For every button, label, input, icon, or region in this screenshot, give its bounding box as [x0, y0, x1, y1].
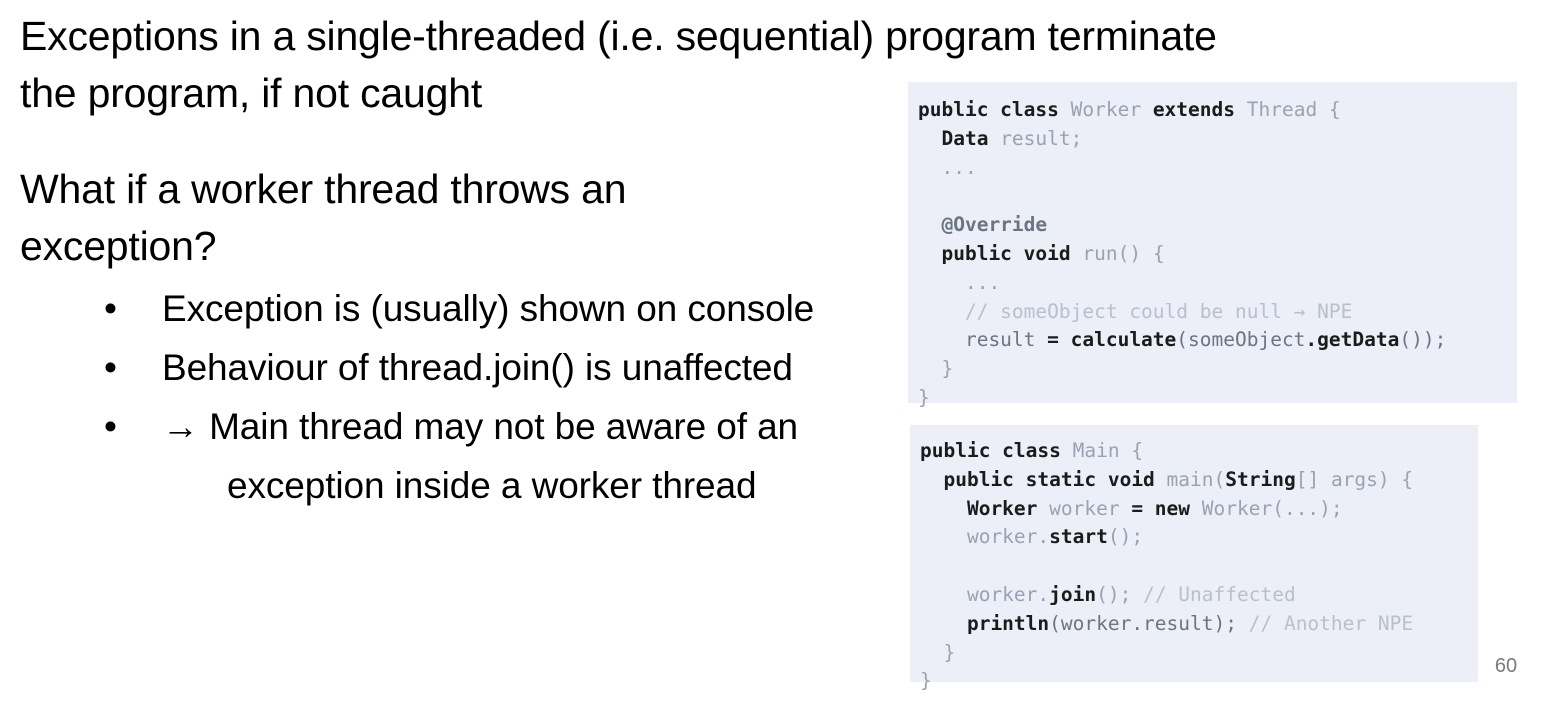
- code-token: extends: [1153, 98, 1235, 121]
- code-line: public void run() {: [918, 240, 1517, 269]
- code-line: public class Main {: [920, 437, 1478, 466]
- code-token: public void: [918, 242, 1071, 265]
- code-line: ...: [918, 269, 1517, 298]
- code-line: Worker worker = new Worker(...);: [920, 495, 1478, 524]
- code-token: String: [1225, 468, 1295, 491]
- code-token: = new: [1131, 497, 1190, 520]
- code-line: println(worker.result); // Another NPE: [920, 610, 1478, 639]
- code-line: result = calculate(someObject.getData())…: [918, 326, 1517, 355]
- code-token: run: [1071, 242, 1118, 265]
- code-token: worker: [1037, 497, 1131, 520]
- code-token: Main {: [1073, 439, 1143, 462]
- code-line: }: [920, 667, 1478, 696]
- code-token: ();: [1108, 525, 1143, 548]
- code-token: @Override: [918, 213, 1047, 236]
- code-block-main: public class Main { public static void m…: [910, 425, 1478, 682]
- code-comment: // Another NPE: [1249, 612, 1413, 635]
- list-item: • Behaviour of thread.join() is unaffect…: [20, 338, 920, 397]
- code-token: ());: [1399, 328, 1446, 351]
- headline-line-1: Exceptions in a single-threaded (i.e. se…: [20, 8, 920, 65]
- code-line: }: [920, 639, 1478, 668]
- slide-text-column: Exceptions in a single-threaded (i.e. se…: [20, 8, 920, 515]
- list-item-wrapped-label: exception inside a worker thread: [162, 456, 920, 515]
- code-token: (someObject: [1176, 328, 1305, 351]
- code-line: }: [918, 384, 1517, 413]
- code-token: (: [1214, 468, 1226, 491]
- code-token: }: [920, 641, 955, 664]
- bullet-dot-icon: •: [104, 338, 117, 397]
- code-token: result;: [988, 127, 1082, 150]
- code-token: public static void: [920, 468, 1155, 491]
- code-token: Worker(...);: [1190, 497, 1343, 520]
- code-token: main: [1155, 468, 1214, 491]
- code-token: worker.: [920, 583, 1049, 606]
- code-token: worker.: [920, 525, 1049, 548]
- bullet-dot-icon: •: [104, 397, 117, 456]
- bullet-dot-icon: •: [104, 279, 117, 338]
- headline-line-2: the program, if not caught: [20, 65, 920, 122]
- code-token: }: [918, 386, 930, 409]
- code-token: start: [1049, 525, 1108, 548]
- code-line: worker.join(); // Unaffected: [920, 581, 1478, 610]
- list-item-label: Exception is (usually) shown on console: [162, 288, 814, 329]
- list-item: • Exception is (usually) shown on consol…: [20, 279, 920, 338]
- code-token: ...: [918, 156, 977, 179]
- code-token: public class: [918, 98, 1071, 121]
- code-token: .getData: [1305, 328, 1399, 351]
- code-token: Thread {: [1235, 98, 1341, 121]
- list-item: • → Main thread may not be aware of an e…: [20, 397, 920, 515]
- code-line-blank: [920, 552, 1478, 581]
- code-line: @Override: [918, 211, 1517, 240]
- code-token: ();: [1096, 583, 1143, 606]
- code-token: = calculate: [1047, 328, 1176, 351]
- code-line: public class Worker extends Thread {: [918, 96, 1517, 125]
- code-line-blank: [918, 182, 1517, 211]
- code-token: Worker: [920, 497, 1037, 520]
- code-token: result: [918, 328, 1047, 351]
- code-comment: // Unaffected: [1143, 583, 1296, 606]
- code-block-worker: public class Worker extends Thread { Dat…: [908, 82, 1517, 403]
- code-token: (worker.result);: [1049, 612, 1249, 635]
- code-line: ...: [918, 154, 1517, 183]
- code-line: }: [918, 355, 1517, 384]
- code-token: join: [1049, 583, 1096, 606]
- code-token: println: [920, 612, 1049, 635]
- list-item-label: → Main thread may not be aware of an: [162, 406, 798, 447]
- code-line: // someObject could be null → NPE: [918, 298, 1517, 327]
- code-token: }: [918, 357, 953, 380]
- code-line: Data result;: [918, 125, 1517, 154]
- code-line: public static void main(String[] args) {: [920, 466, 1478, 495]
- list-item-label: Behaviour of thread.join() is unaffected: [162, 347, 793, 388]
- question-text: What if a worker thread throws an except…: [20, 161, 810, 275]
- slide-number: 60: [1486, 655, 1526, 678]
- code-token: Worker: [1071, 98, 1153, 121]
- code-token: }: [920, 669, 932, 692]
- code-token: ...: [918, 271, 1000, 294]
- code-token: Data: [918, 127, 988, 150]
- paragraph-spacer: [20, 122, 920, 161]
- code-comment: // someObject could be null → NPE: [918, 300, 1352, 323]
- code-token: public class: [920, 439, 1073, 462]
- code-token: () {: [1118, 242, 1165, 265]
- code-token: [] args) {: [1296, 468, 1413, 491]
- bullet-list: • Exception is (usually) shown on consol…: [20, 279, 920, 515]
- code-line: worker.start();: [920, 523, 1478, 552]
